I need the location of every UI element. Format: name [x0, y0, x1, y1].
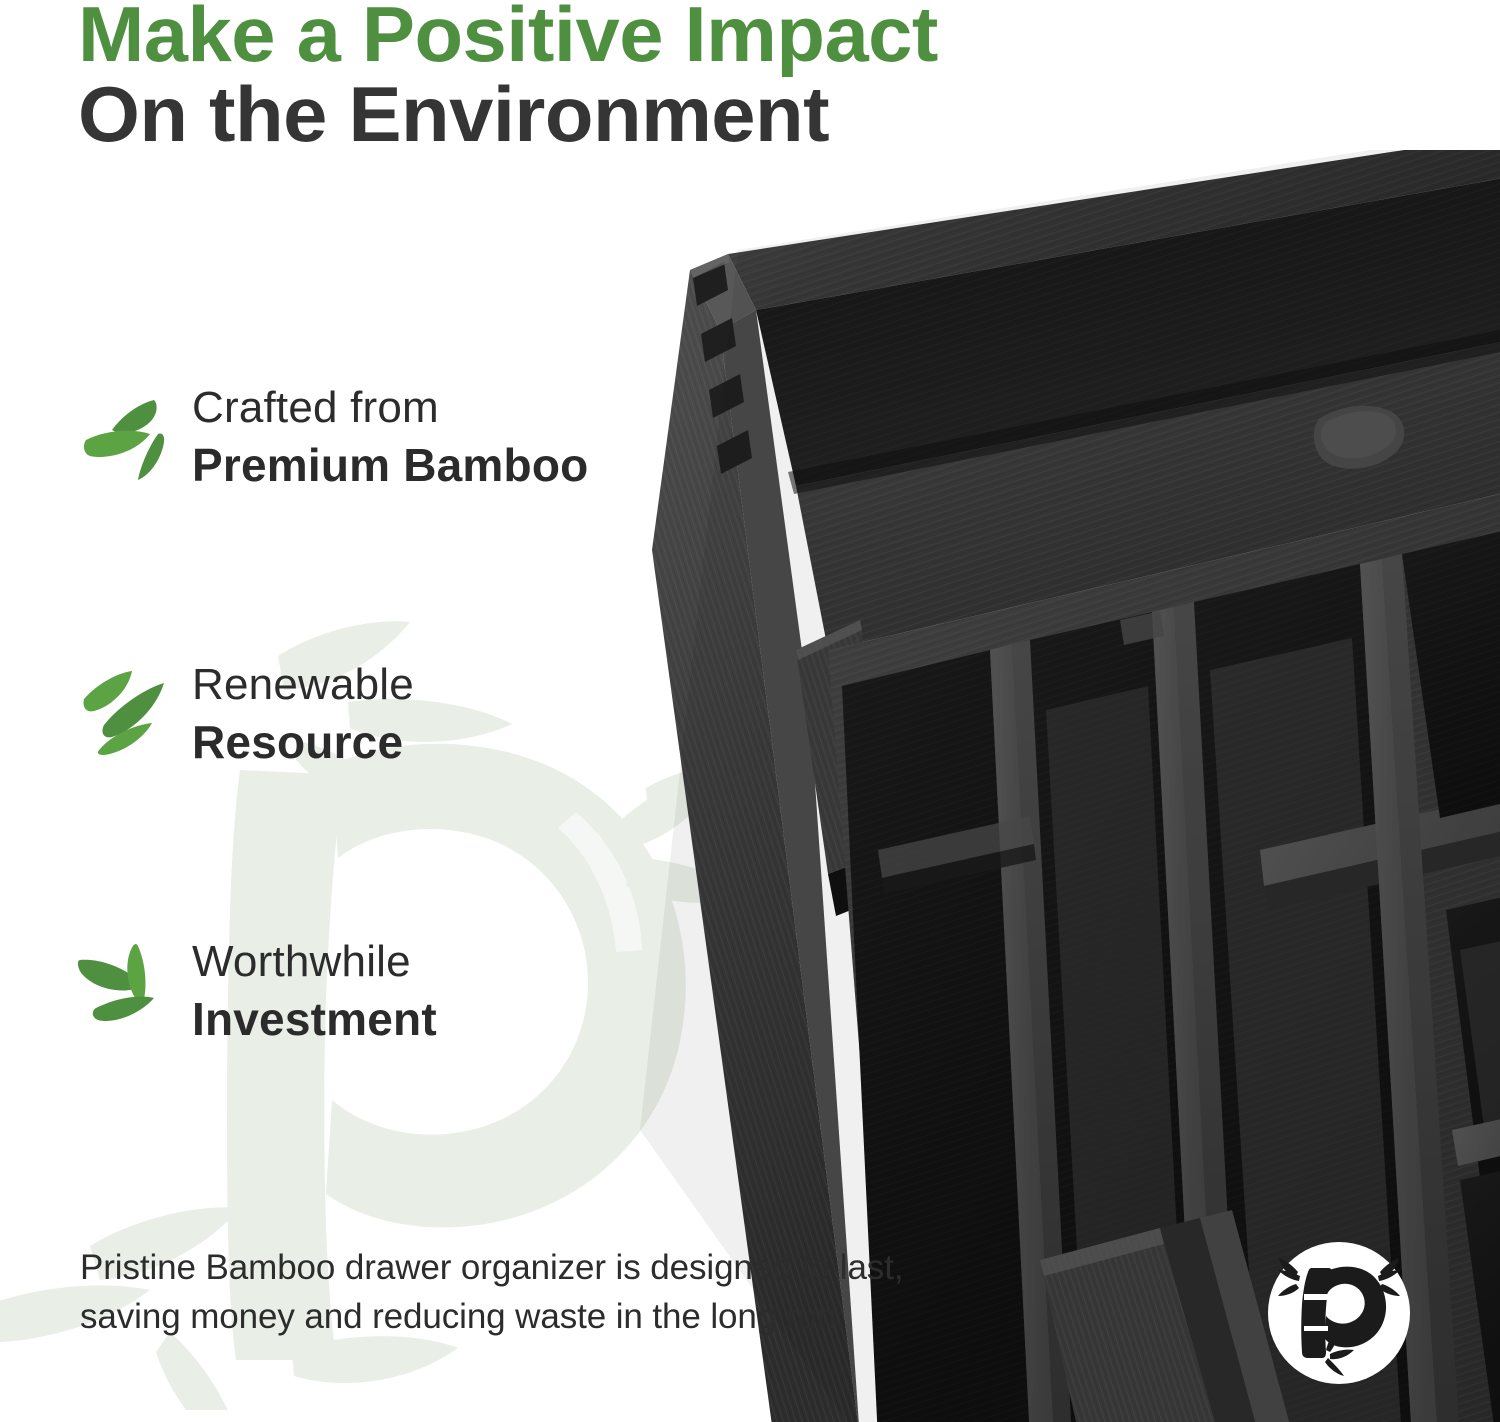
footer-description: Pristine Bamboo drawer organizer is desi…: [80, 1243, 1100, 1341]
benefit-line-1: Worthwhile: [192, 936, 437, 988]
headline-line-2: On the Environment: [78, 76, 938, 152]
footer-line-1: Pristine Bamboo drawer organizer is desi…: [80, 1243, 1100, 1292]
black-bamboo-drawer-organizer: [560, 150, 1500, 1422]
bamboo-leaf-icon: [78, 378, 174, 482]
benefit-line-2: Resource: [192, 715, 414, 769]
marketing-infographic: Make a Positive Impact On the Environmen…: [0, 0, 1500, 1422]
benefit-item-renewable-resource: Renewable Resource: [0, 655, 414, 769]
footer-line-2: saving money and reducing waste in the l…: [80, 1292, 1100, 1341]
benefit-item-worthwhile-investment: Worthwhile Investment: [0, 932, 437, 1046]
bamboo-leaf-icon: [78, 655, 174, 759]
benefit-line-1: Crafted from: [192, 382, 588, 434]
pristine-bamboo-logo: [1268, 1242, 1410, 1384]
benefit-line-1: Renewable: [192, 659, 414, 711]
bamboo-leaf-icon: [78, 932, 174, 1036]
benefit-line-2: Investment: [192, 992, 437, 1046]
headline-line-1: Make a Positive Impact: [78, 0, 938, 72]
benefit-item-premium-bamboo: Crafted from Premium Bamboo: [0, 378, 588, 492]
page-title: Make a Positive Impact On the Environmen…: [78, 0, 921, 153]
benefit-text: Worthwhile Investment: [192, 932, 437, 1046]
benefit-line-2: Premium Bamboo: [192, 438, 588, 492]
benefit-text: Renewable Resource: [192, 655, 414, 769]
benefit-text: Crafted from Premium Bamboo: [192, 378, 588, 492]
